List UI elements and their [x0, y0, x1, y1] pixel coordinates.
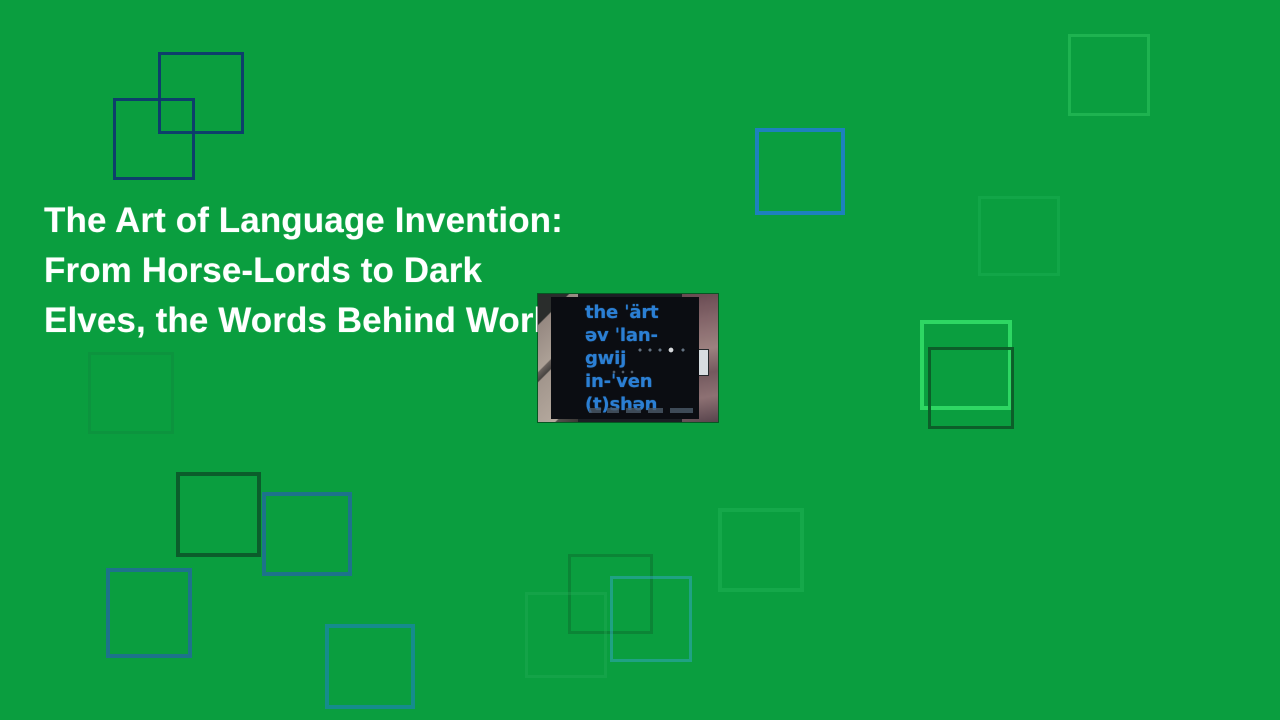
square-14 [718, 508, 804, 592]
cover-dot-row-2 [611, 369, 651, 376]
square-6 [928, 347, 1014, 429]
page-title: The Art of Language Invention: From Hors… [44, 196, 1004, 346]
square-9 [106, 568, 192, 658]
square-7 [176, 472, 261, 557]
square-4 [1068, 34, 1150, 116]
book-listing-banner: The Art of Language Invention: From Hors… [0, 0, 1280, 720]
cover-text-panel: the ˈärt əv ˈlan- gwij in-ˈven (t)shən [551, 297, 699, 419]
square-13 [525, 592, 607, 678]
square-12 [610, 576, 692, 662]
square-11 [568, 554, 653, 634]
cover-dot-row-1 [637, 346, 695, 355]
square-1 [158, 52, 244, 134]
square-10 [325, 624, 415, 709]
book-cover-thumbnail[interactable]: the ˈärt əv ˈlan- gwij in-ˈven (t)shən [538, 294, 718, 422]
cover-bottom-bar [589, 408, 693, 413]
cover-ipa-title: the ˈärt əv ˈlan- gwij in-ˈven (t)shən [585, 301, 703, 416]
square-8 [262, 492, 352, 576]
square-2 [113, 98, 195, 180]
square-15 [88, 352, 174, 434]
